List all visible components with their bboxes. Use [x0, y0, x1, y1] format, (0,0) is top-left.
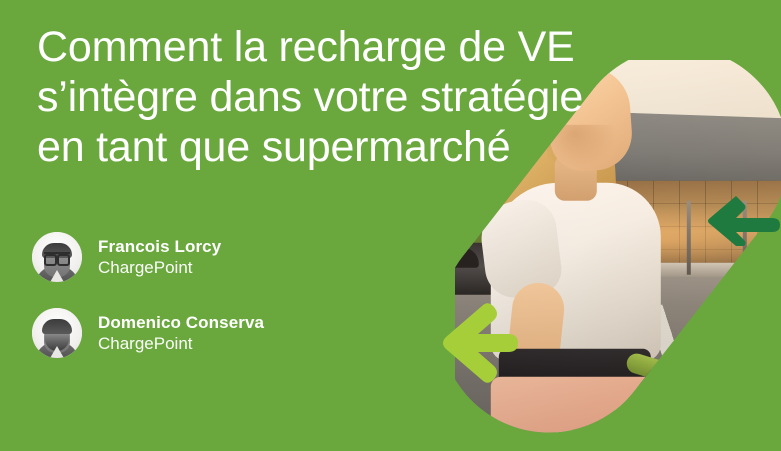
- arrow-left-light-green-icon: [438, 300, 520, 384]
- speaker-list: Francois Lorcy ChargePoint Domenico Cons…: [32, 228, 372, 380]
- photo-shopping-cart-handle: [624, 351, 735, 402]
- avatar-hair: [42, 319, 72, 334]
- photo-curb: [517, 263, 781, 277]
- avatar: [32, 308, 82, 358]
- speaker-organization: ChargePoint: [98, 257, 221, 278]
- photo-shopping-cart-basket: [653, 355, 781, 451]
- speaker-text: Francois Lorcy ChargePoint: [98, 236, 221, 278]
- speaker-text: Domenico Conserva ChargePoint: [98, 312, 264, 354]
- speaker-name: Francois Lorcy: [98, 236, 221, 257]
- photo-pole: [687, 201, 691, 275]
- speaker-organization: ChargePoint: [98, 333, 264, 354]
- photo-woman-sleeve: [477, 196, 564, 301]
- speaker-name: Domenico Conserva: [98, 312, 264, 333]
- photo-parked-car: [455, 243, 515, 295]
- photo-grass: [455, 155, 587, 285]
- photo-woman-skirt: [491, 377, 659, 451]
- photo-shopping-cart-rail: [657, 368, 781, 419]
- arrow-left-dark-green-icon: [706, 192, 781, 250]
- promo-banner: Comment la recharge de VE s’intègre dans…: [0, 0, 781, 451]
- photo-woman-waistband: [499, 349, 651, 385]
- photo-car-window: [455, 248, 479, 268]
- avatar: [32, 232, 82, 282]
- photo-crosswalk: [507, 305, 781, 451]
- speaker-item: Domenico Conserva ChargePoint: [32, 304, 372, 362]
- page-title: Comment la recharge de VE s’intègre dans…: [37, 22, 637, 172]
- speaker-item: Francois Lorcy ChargePoint: [32, 228, 372, 286]
- glasses-icon: [44, 252, 70, 262]
